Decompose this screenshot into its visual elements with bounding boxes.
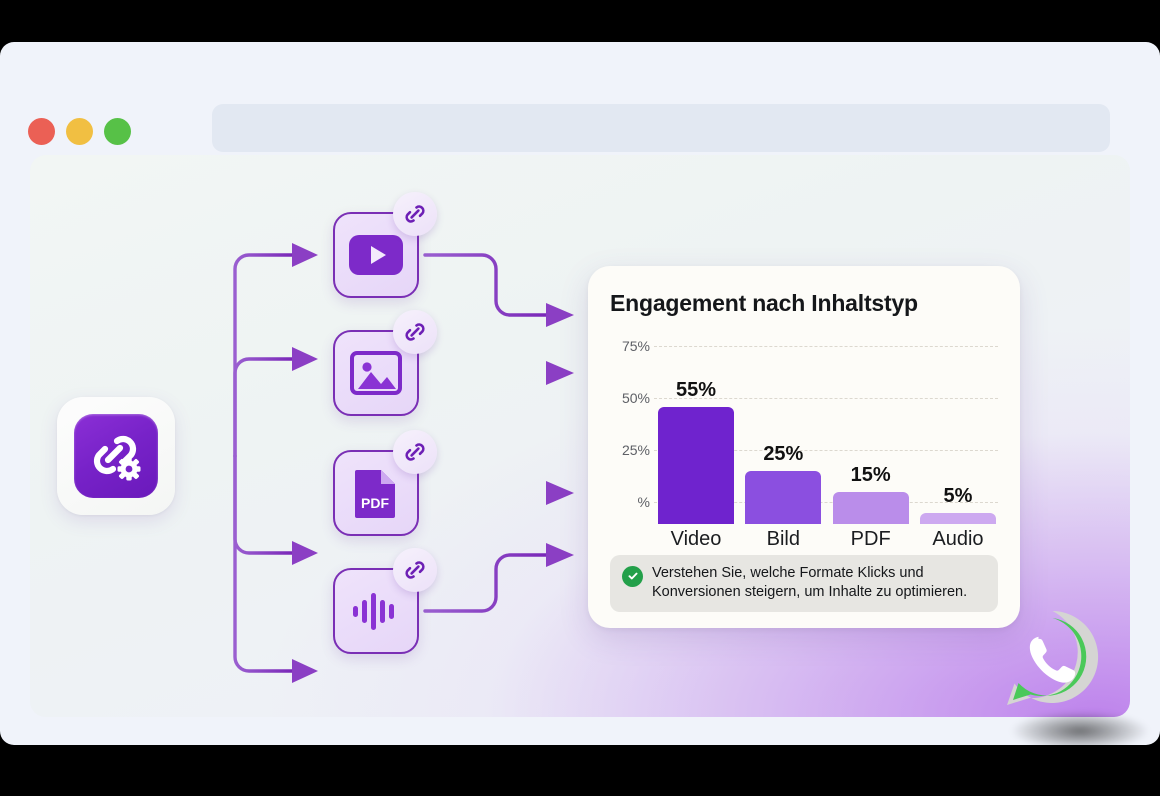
screenshot-root: PDF [0, 0, 1160, 796]
link-badge-image [393, 310, 437, 354]
bar-value-pdf: 15% [851, 464, 891, 487]
video-play-icon [348, 234, 404, 276]
xlabel-bild: Bild [745, 528, 821, 551]
gridline-75 [654, 346, 998, 347]
address-bar-input[interactable] [212, 104, 1110, 152]
x-axis-labels: Video Bild PDF Audio [658, 528, 996, 551]
callout-line-1: Verstehen Sie, welche Formate Klicks und [652, 564, 967, 584]
window-minimize-button[interactable] [66, 118, 93, 145]
xlabel-pdf: PDF [833, 528, 909, 551]
browser-window: PDF [0, 42, 1160, 745]
bar-chart-plot: 75% 50% 25% % 55% 25% [610, 331, 998, 524]
link-badge-pdf [393, 430, 437, 474]
bar-value-audio: 5% [944, 485, 973, 508]
xlabel-audio: Audio [920, 528, 996, 551]
image-photo-icon [350, 351, 402, 395]
content-type-audio[interactable] [333, 568, 419, 654]
bar-bild[interactable] [745, 471, 821, 524]
window-maximize-button[interactable] [104, 118, 131, 145]
whatsapp-icon [1000, 607, 1105, 712]
link-gear-icon [74, 414, 158, 498]
whatsapp-fab[interactable] [1000, 607, 1105, 712]
content-type-image[interactable] [333, 330, 419, 416]
ytick-25: 25% [610, 442, 650, 458]
link-badge-video [393, 192, 437, 236]
insight-callout: Verstehen Sie, welche Formate Klicks und… [610, 555, 998, 612]
engagement-chart-card: Engagement nach Inhaltstyp 75% 50% 25% %… [588, 266, 1020, 628]
browser-titlebar [0, 42, 1160, 148]
ytick-0: % [610, 494, 650, 510]
source-node[interactable] [57, 397, 175, 515]
ytick-75: 75% [610, 338, 650, 354]
bar-pdf[interactable] [833, 492, 909, 524]
bar-value-video: 55% [676, 379, 716, 402]
bars-group: 55% 25% 15% 5% [658, 354, 996, 524]
link-icon [403, 320, 427, 344]
bar-audio[interactable] [920, 513, 996, 524]
chart-title: Engagement nach Inhaltstyp [610, 290, 998, 317]
link-icon [403, 440, 427, 464]
pdf-document-icon: PDF [353, 466, 399, 520]
pdf-badge-text: PDF [361, 495, 389, 511]
bar-column-bild[interactable]: 25% [745, 443, 821, 524]
bar-value-bild: 25% [763, 443, 803, 466]
callout-text: Verstehen Sie, welche Formate Klicks und… [652, 564, 967, 603]
bar-column-audio[interactable]: 5% [920, 485, 996, 524]
bar-video[interactable] [658, 407, 734, 524]
link-badge-audio [393, 548, 437, 592]
ytick-50: 50% [610, 390, 650, 406]
xlabel-video: Video [658, 528, 734, 551]
callout-line-2: Konversionen steigern, um Inhalte zu opt… [652, 583, 967, 603]
window-close-button[interactable] [28, 118, 55, 145]
link-icon [403, 558, 427, 582]
bar-column-pdf[interactable]: 15% [833, 464, 909, 524]
check-circle-icon [622, 566, 643, 587]
audio-waveform-icon [349, 589, 403, 633]
link-icon [403, 202, 427, 226]
content-type-pdf[interactable]: PDF [333, 450, 419, 536]
illustration-canvas: PDF [30, 155, 1130, 717]
content-type-video[interactable] [333, 212, 419, 298]
fab-shadow [1010, 711, 1150, 751]
bar-column-video[interactable]: 55% [658, 379, 734, 524]
